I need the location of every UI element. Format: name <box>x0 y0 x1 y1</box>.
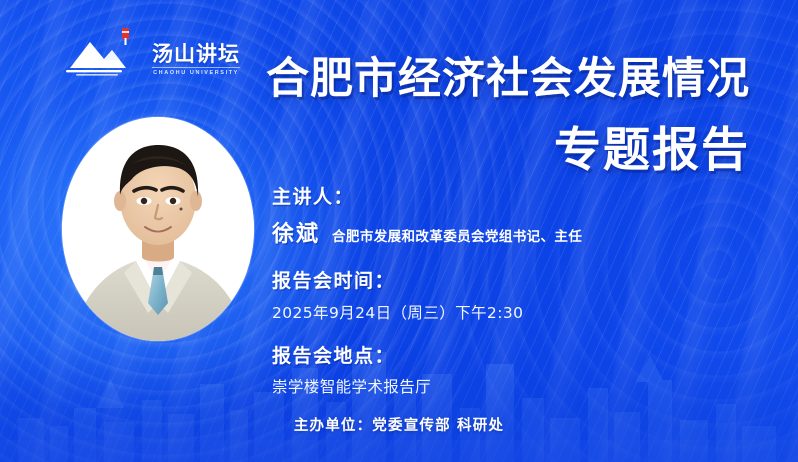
poster-headline: 合肥市经济社会发展情况 专题报告 <box>266 56 750 177</box>
time-label: 报告会时间： <box>272 270 702 294</box>
speaker-name: 徐斌 <box>272 216 320 248</box>
speaker-title: 合肥市发展和改革委员会党组书记、主任 <box>332 225 582 245</box>
lecture-info: 主讲人： 徐斌 合肥市发展和改革委员会党组书记、主任 报告会时间： 2025年9… <box>272 186 702 397</box>
time-group: 报告会时间： 2025年9月24日（周三）下午2:30 <box>272 270 702 323</box>
organizer-footer: 主办单位：党委宣传部 科研处 <box>0 414 798 435</box>
speaker-label: 主讲人： <box>272 186 702 210</box>
headline-line-1: 合肥市经济社会发展情况 <box>266 56 750 102</box>
place-value: 崇学楼智能学术报告厅 <box>272 375 702 397</box>
time-value: 2025年9月24日（周三）下午2:30 <box>272 301 702 323</box>
place-label: 报告会地点： <box>272 345 702 369</box>
place-group: 报告会地点： 崇学楼智能学术报告厅 <box>272 345 702 398</box>
speaker-portrait <box>62 117 254 341</box>
logo-chinese-text: 汤山讲坛 <box>152 44 240 65</box>
logo-underline <box>152 67 240 68</box>
speaker-row: 徐斌 合肥市发展和改革委员会党组书记、主任 <box>272 216 702 248</box>
tangshan-mountain-logo-icon <box>64 26 150 78</box>
lecture-poster: 汤山讲坛 CHAOHU UNIVERSITY <box>0 0 798 462</box>
logo-english-text: CHAOHU UNIVERSITY <box>153 71 239 77</box>
headline-line-2: 专题报告 <box>266 126 750 177</box>
brand-logo: 汤山讲坛 CHAOHU UNIVERSITY <box>64 24 236 78</box>
